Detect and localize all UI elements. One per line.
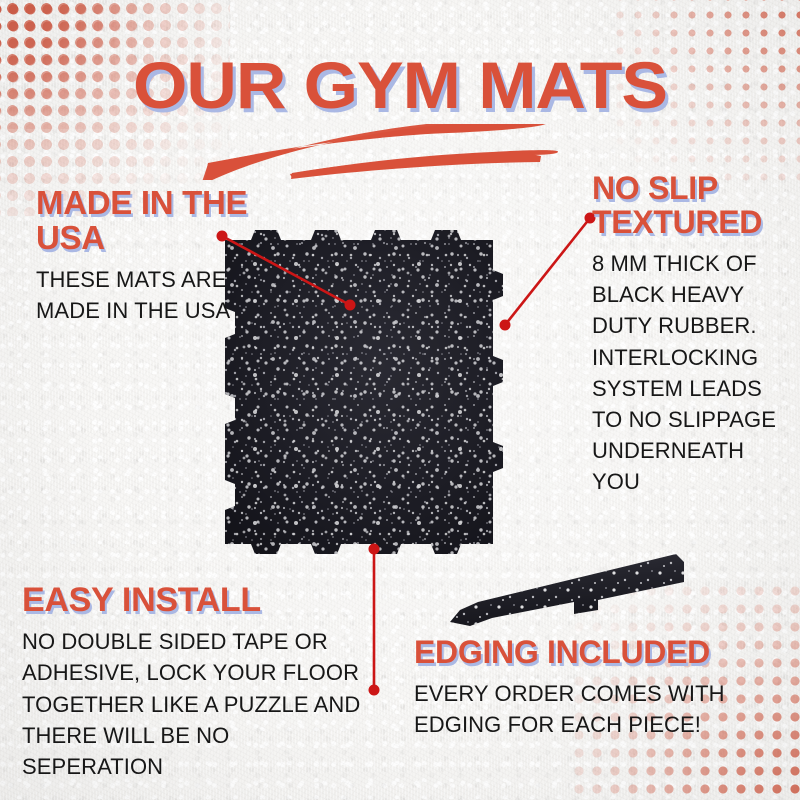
callout-made-in-usa-body: THESE MATS ARE MADE IN THE USA <box>36 264 276 326</box>
title-block: OUR GYM MATS <box>0 52 800 118</box>
edging-surface <box>448 552 684 630</box>
edging-strip-image <box>448 552 684 630</box>
callout-edging-heading: EDGING INCLUDED <box>414 636 786 670</box>
callout-easy-install-heading: EASY INSTALL <box>22 582 372 618</box>
callout-easy-install-body: NO DOUBLE SIDED TAPE OR ADHESIVE, LOCK Y… <box>22 626 372 782</box>
callout-no-slip-body: 8 MM THICK OF BLACK HEAVY DUTY RUBBER. I… <box>592 248 792 498</box>
callout-no-slip-textured: NO SLIP TEXTURED 8 MM THICK OF BLACK HEA… <box>592 172 792 498</box>
callout-edging-body: EVERY ORDER COMES WITH EDGING FOR EACH P… <box>414 678 786 740</box>
page-title: OUR GYM MATS <box>0 52 800 118</box>
callout-edging-included: EDGING INCLUDED EVERY ORDER COMES WITH E… <box>414 636 786 740</box>
title-underline-swoosh-icon <box>196 124 616 180</box>
callout-made-in-usa-heading: MADE IN THE USA <box>36 186 276 256</box>
callout-easy-install: EASY INSTALL NO DOUBLE SIDED TAPE OR ADH… <box>22 582 372 782</box>
callout-made-in-usa: MADE IN THE USA THESE MATS ARE MADE IN T… <box>36 186 276 326</box>
callout-no-slip-heading: NO SLIP TEXTURED <box>592 172 792 240</box>
poster-canvas: OUR GYM MATS MADE IN THE USA THESE MATS … <box>0 0 800 800</box>
